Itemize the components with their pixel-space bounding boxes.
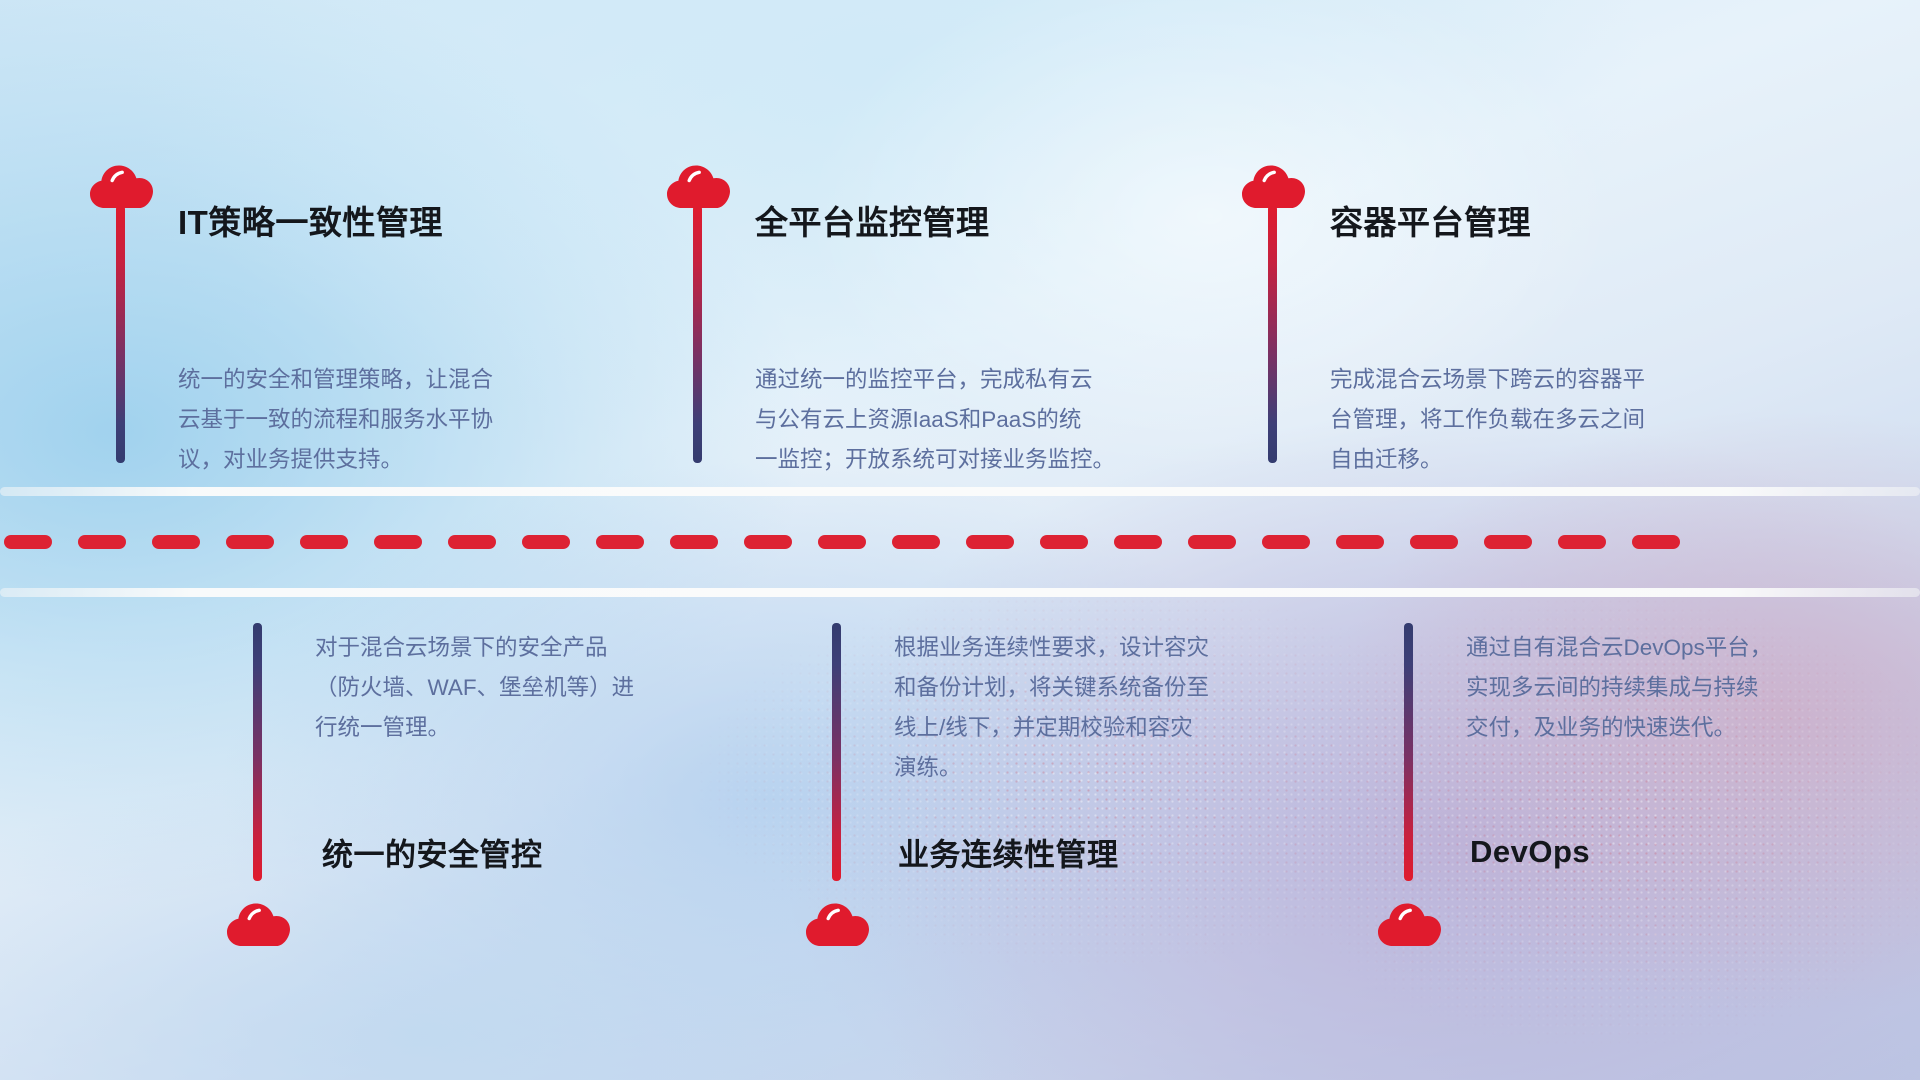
- road-dash: [744, 535, 792, 549]
- description-line: 演练。: [894, 748, 1209, 788]
- road-dash: [892, 535, 940, 549]
- cloud-icon: [1376, 898, 1442, 948]
- road-dash: [226, 535, 274, 549]
- description-line: 通过统一的监控平台，完成私有云: [755, 360, 1115, 400]
- road-dash: [522, 535, 570, 549]
- road-dash: [596, 535, 644, 549]
- description-line: 交付，及业务的快速迭代。: [1466, 708, 1772, 748]
- description-line: 完成混合云场景下跨云的容器平: [1330, 360, 1645, 400]
- card-description: 根据业务连续性要求，设计容灾和备份计划，将关键系统备份至线上/线下，并定期校验和…: [894, 628, 1209, 788]
- road-dash: [1484, 535, 1532, 549]
- road-dash: [1410, 535, 1458, 549]
- description-line: 一监控；开放系统可对接业务监控。: [755, 440, 1115, 480]
- road-dash: [966, 535, 1014, 549]
- cloud-icon: [1240, 160, 1306, 210]
- road-dash: [1262, 535, 1310, 549]
- hybrid-cloud-divider: [0, 487, 1920, 597]
- road-dash: [374, 535, 422, 549]
- description-line: 线上/线下，并定期校验和容灾: [894, 708, 1209, 748]
- description-line: 根据业务连续性要求，设计容灾: [894, 628, 1209, 668]
- description-line: 通过自有混合云DevOps平台，: [1466, 628, 1772, 668]
- road-dash: [448, 535, 496, 549]
- road-line-upper: [0, 487, 1920, 496]
- card-devops: 通过自有混合云DevOps平台，实现多云间的持续集成与持续交付，及业务的快速迭代…: [0, 600, 640, 1080]
- timeline-bar: [832, 623, 841, 881]
- road-dash: [152, 535, 200, 549]
- card-title: 业务连续性管理: [898, 830, 1119, 875]
- description-line: 自由迁移。: [1330, 440, 1645, 480]
- road-dash: [78, 535, 126, 549]
- road-dash: [300, 535, 348, 549]
- description-line: 和备份计划，将关键系统备份至: [894, 668, 1209, 708]
- card-description: 通过自有混合云DevOps平台，实现多云间的持续集成与持续交付，及业务的快速迭代…: [1466, 628, 1772, 748]
- description-line: 实现多云间的持续集成与持续: [1466, 668, 1772, 708]
- road-dash: [670, 535, 718, 549]
- road-line-lower: [0, 588, 1920, 597]
- card-title: 全平台监控管理: [755, 196, 990, 244]
- timeline-bar: [1404, 623, 1413, 881]
- road-dash: [1558, 535, 1606, 549]
- road-dash: [1040, 535, 1088, 549]
- road-dash: [1188, 535, 1236, 549]
- road-dash: [1114, 535, 1162, 549]
- road-dash: [4, 535, 52, 549]
- card-description: 通过统一的监控平台，完成私有云与公有云上资源IaaS和PaaS的统一监控；开放系…: [755, 360, 1115, 480]
- card-description: 完成混合云场景下跨云的容器平台管理，将工作负载在多云之间自由迁移。: [1330, 360, 1645, 480]
- timeline-bar: [1268, 205, 1277, 463]
- road-dash: [1336, 535, 1384, 549]
- cloud-icon: [804, 898, 870, 948]
- card-container-platform: 容器平台管理 完成混合云场景下跨云的容器平台管理，将工作负载在多云之间自由迁移。: [0, 0, 640, 487]
- cloud-icon: [665, 160, 731, 210]
- card-title: DevOps: [1470, 834, 1590, 870]
- road-dashed-centerline: [0, 535, 1920, 549]
- description-line: 与公有云上资源IaaS和PaaS的统: [755, 400, 1115, 440]
- road-dash: [818, 535, 866, 549]
- card-title: 容器平台管理: [1330, 196, 1531, 244]
- description-line: 台管理，将工作负载在多云之间: [1330, 400, 1645, 440]
- road-dash: [1632, 535, 1680, 549]
- timeline-bar: [693, 205, 702, 463]
